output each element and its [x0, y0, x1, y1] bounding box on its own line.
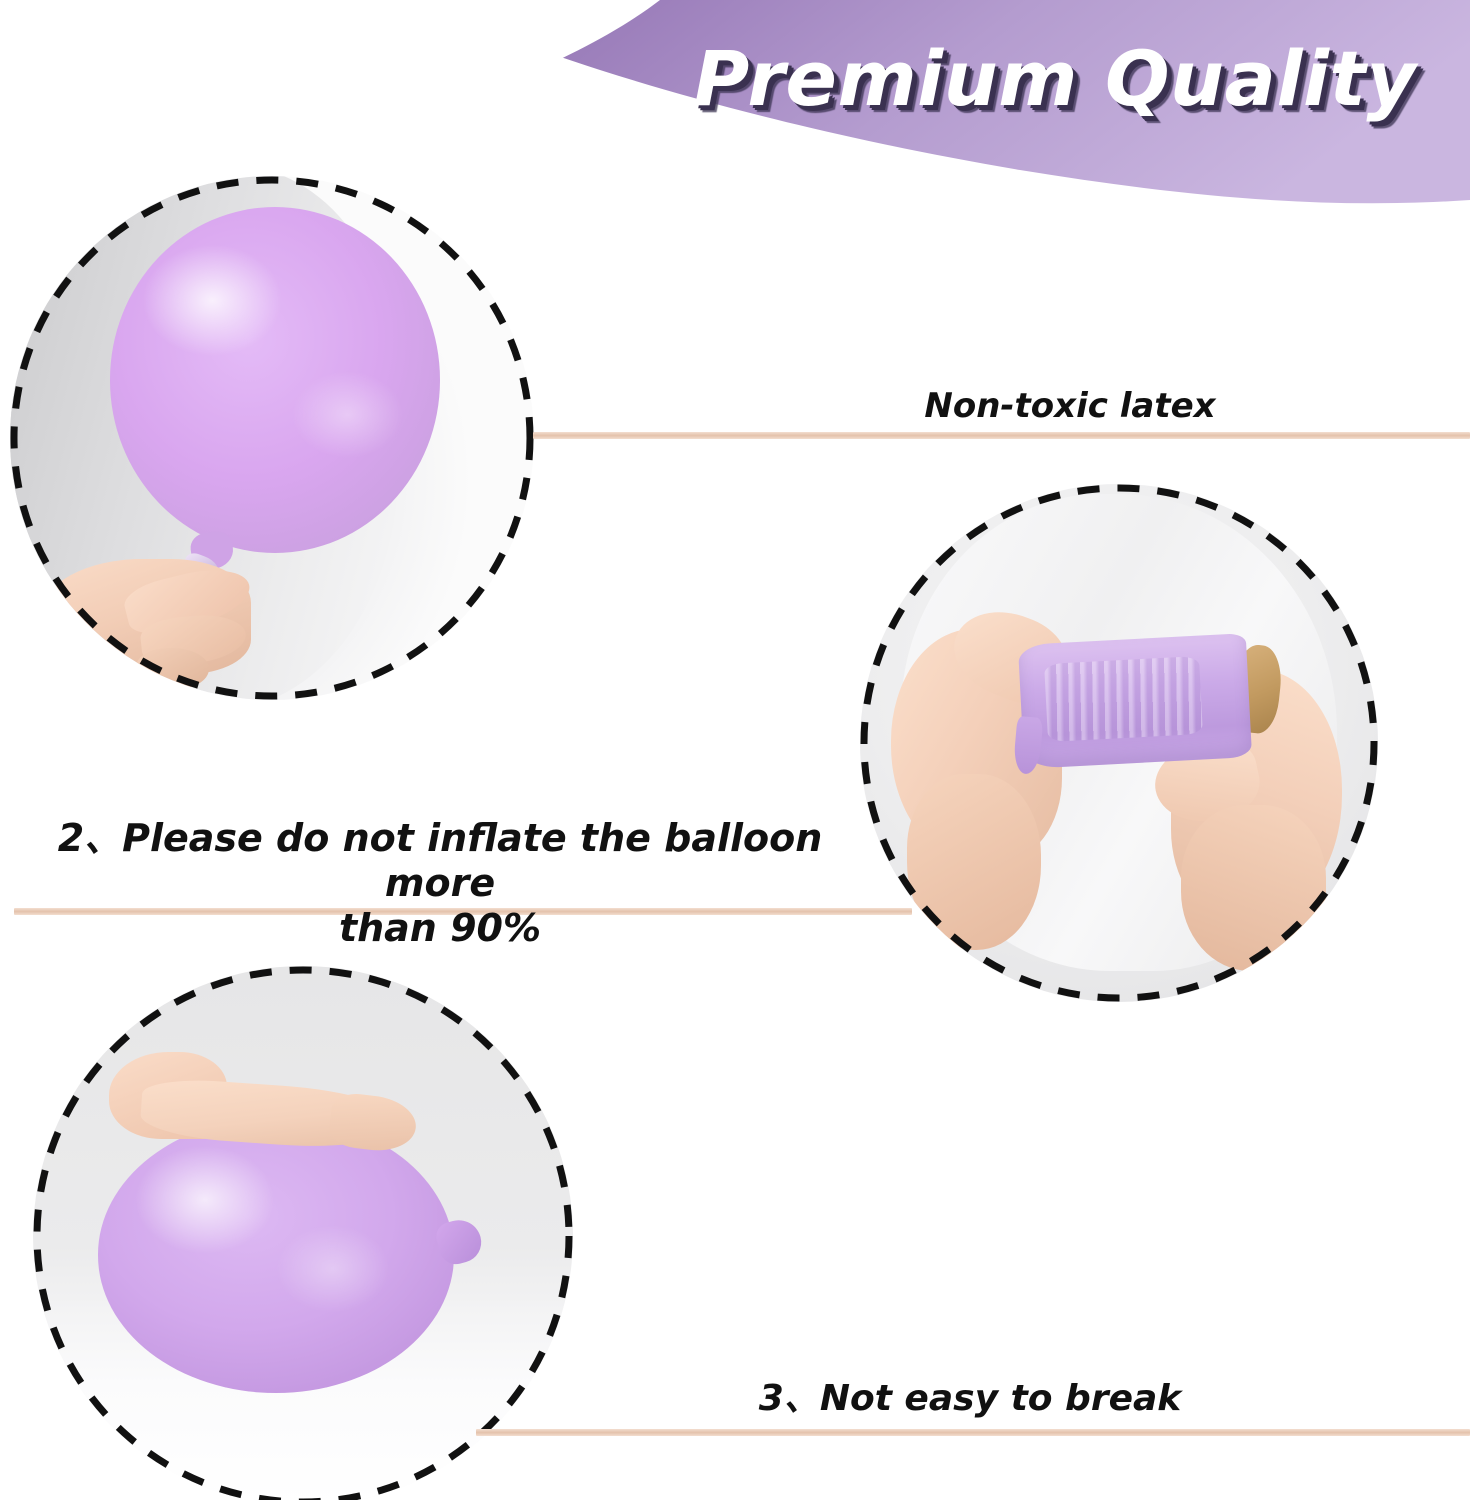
infographic-root: Premium Quality Non-toxic latex: [0, 0, 1470, 1500]
photo-press-test: [33, 966, 573, 1500]
balloon-inflated: [110, 207, 440, 553]
balloon-squashed: [98, 1117, 454, 1392]
rule-feature-1: [533, 432, 1470, 439]
wrist-right-2: [1181, 805, 1326, 971]
caption-inflate-limit-line2: than 90%: [339, 906, 541, 950]
photo-non-toxic-latex: [10, 176, 534, 700]
wrist-left-2: [907, 774, 1042, 950]
page-title: Premium Quality: [640, 34, 1470, 123]
caption-not-easy-to-break: 3、Not easy to break: [640, 1378, 1300, 1420]
caption-inflate-limit-line1: 2、Please do not inflate the balloon more: [58, 816, 823, 905]
rule-feature-3: [476, 1429, 1470, 1436]
caption-non-toxic-latex: Non-toxic latex: [760, 386, 1380, 426]
caption-inflate-limit: 2、Please do not inflate the balloon more…: [10, 816, 870, 950]
latex-ripples: [1045, 656, 1204, 742]
photo-stretch-test: [860, 484, 1378, 1002]
finger-ring-1: [136, 648, 209, 690]
